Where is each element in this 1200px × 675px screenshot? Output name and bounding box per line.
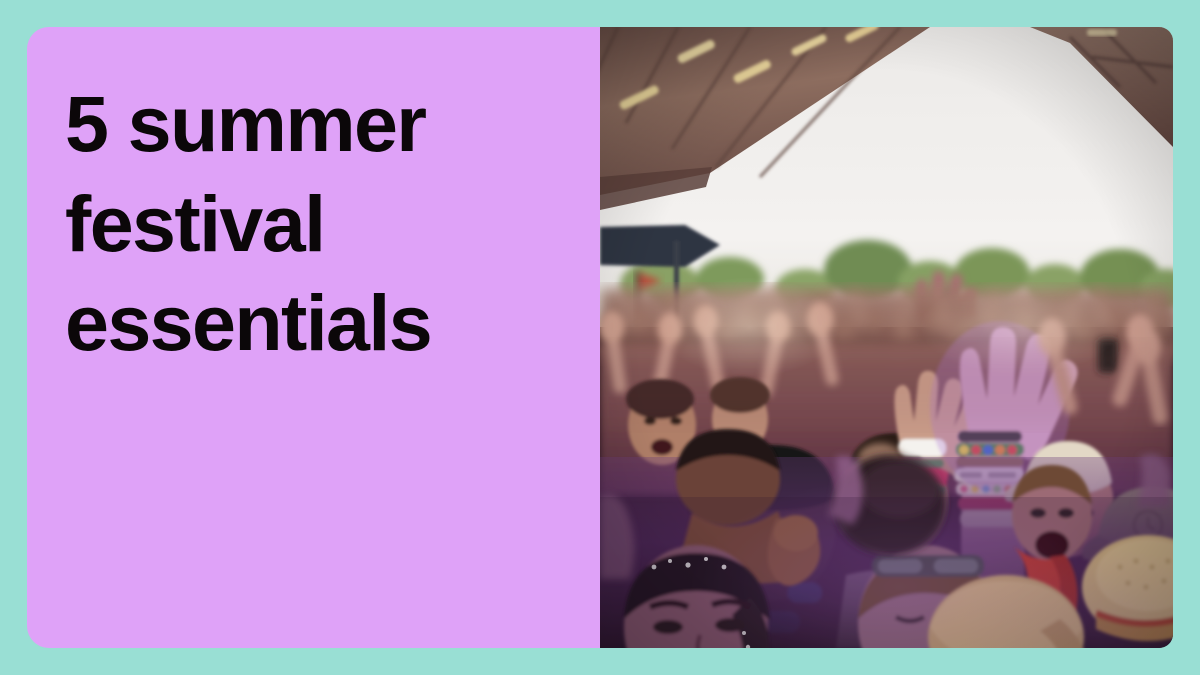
headline-card: 5 summer festival essentials [27,27,600,648]
poster-canvas: 5 summer festival essentials [0,0,1200,675]
page-title: 5 summer festival essentials [65,74,575,373]
festival-crowd-photo [600,27,1173,648]
